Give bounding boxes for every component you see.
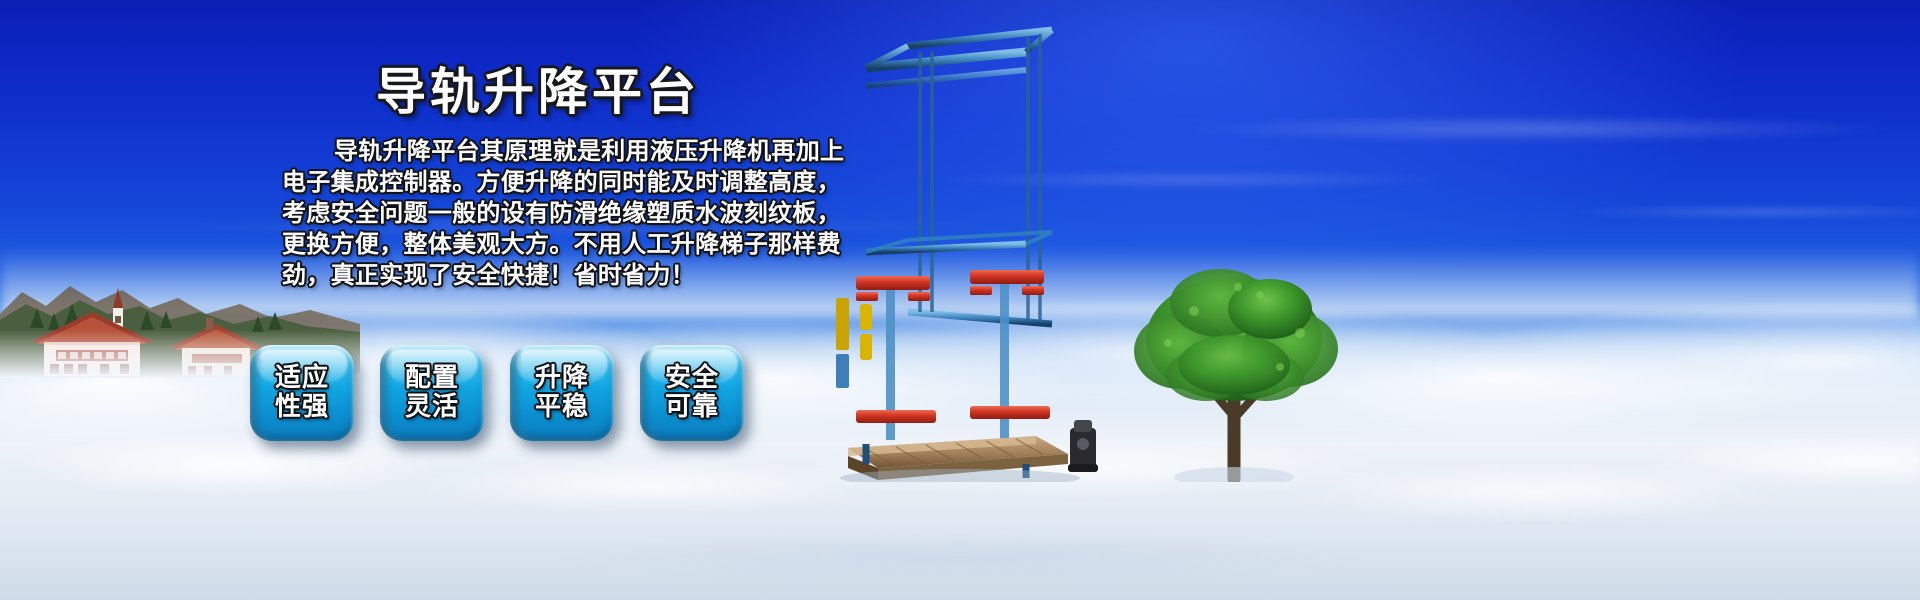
description-line-1: 导轨升降平台其原理就是利用液压升降机再加上 (282, 136, 782, 167)
description-line-2: 电子集成控制器。方便升降的同时能及时调整高度， (282, 167, 782, 198)
feature-badge-safety[interactable]: 安全 可靠 (640, 345, 744, 441)
badge-label-line2: 可靠 (665, 393, 719, 422)
power-pack-unit (1068, 420, 1098, 472)
badge-label-line1: 适应 (275, 364, 329, 393)
description-line-5: 劲，真正实现了安全快捷！省时省力！ (282, 260, 782, 291)
control-panel (836, 298, 849, 388)
feature-badge-list: 适应 性强 配置 灵活 升降 平稳 安全 可靠 (250, 345, 744, 441)
feature-badge-adaptability[interactable]: 适应 性强 (250, 345, 354, 441)
feature-badge-smooth-lifting[interactable]: 升降 平稳 (510, 345, 614, 441)
promo-banner: 导轨升降平台 导轨升降平台其原理就是利用液压升降机再加上 电子集成控制器。方便升… (0, 0, 1920, 600)
badge-label-line2: 性强 (275, 393, 329, 422)
feature-badge-configuration[interactable]: 配置 灵活 (380, 345, 484, 441)
badge-label-line1: 配置 (405, 364, 459, 393)
description-line-4: 更换方便，整体美观大方。不用人工升降梯子那样费 (282, 229, 782, 260)
badge-label-line1: 升降 (535, 364, 589, 393)
badge-label-line2: 平稳 (535, 393, 589, 422)
description-paragraph: 导轨升降平台其原理就是利用液压升降机再加上 电子集成控制器。方便升降的同时能及时… (282, 136, 782, 291)
guide-rail-lift-machine (820, 12, 1120, 482)
badge-label-line2: 灵活 (405, 393, 459, 422)
badge-label-line1: 安全 (665, 364, 719, 393)
description-line-3: 考虑安全问题一般的设有防滑绝缘塑质水波刻纹板， (282, 198, 782, 229)
tree-illustration (1110, 247, 1360, 482)
page-title: 导轨升降平台 (376, 52, 700, 124)
